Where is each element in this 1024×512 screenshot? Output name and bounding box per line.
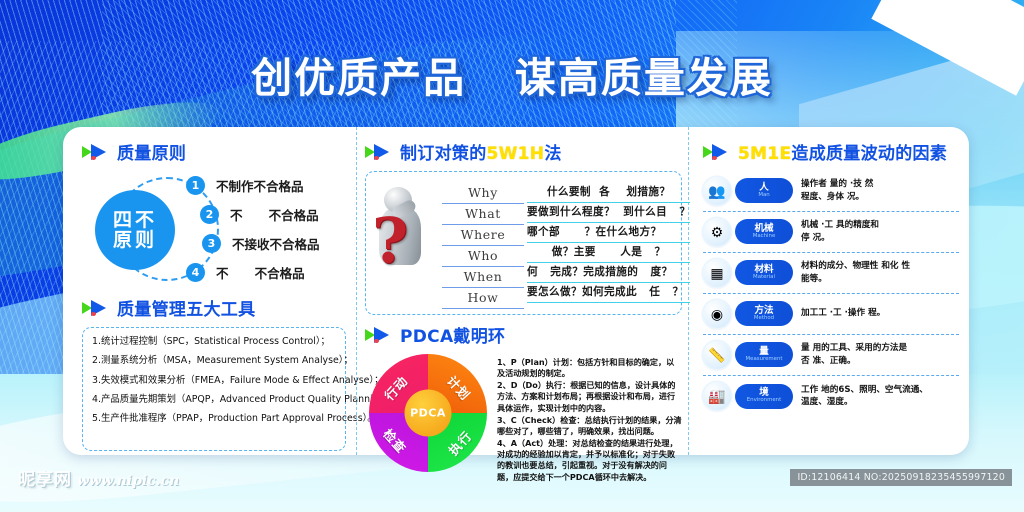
- 5w1h-prefix: 制订对策的: [400, 144, 487, 164]
- section-header-5m1e: 5M1E造成质量波动的因素: [703, 139, 959, 164]
- 5w1h-question: 要怎么做？如何完成此 任 ？: [527, 283, 690, 303]
- list-item: 4 不 不合格品: [186, 258, 366, 287]
- list-item: ⚙ 机械 Machine 机械 ·工 具的精度和 停 况。: [703, 212, 959, 253]
- quality-principle-diagram: 四不 原则 1 不制作不合格品 2 不 不合格品 3 不接收不合格品 4: [82, 171, 346, 289]
- section-header-quality-principle: 质量原则: [82, 139, 346, 164]
- arrow-bullet-icon: [82, 144, 110, 160]
- column-left: 质量原则 四不 原则 1 不制作不合格品 2 不 不合格品 3 不接收: [63, 127, 356, 455]
- section-header-5w1h: 制订对策的5W1H法: [365, 139, 682, 164]
- tool-line: 4.产品质量先期策划（APQP，Advanced Product Quality…: [92, 395, 337, 406]
- factor-pill: 人 Man: [735, 178, 793, 203]
- content-panel: 质量原则 四不 原则 1 不制作不合格品 2 不 不合格品 3 不接收: [63, 127, 969, 455]
- item-number: 2: [200, 205, 219, 224]
- watermark-logo-group: 昵享网 www.nipic.cn: [18, 465, 179, 490]
- factor-description: 工作 地的6S、照明、空气流通、 温度、湿度。: [793, 384, 959, 409]
- item-label: 不 不合格品: [230, 205, 319, 224]
- pdca-paragraph: 2、D（Do）执行：根据已知的信息，设计具体的方法、方案和计划布局；再根据设计和…: [497, 380, 682, 413]
- 5m1e-list: 👥 人 Man 操作者 量的 ·技 然 程度、身体 况。 ⚙ 机械 Machin…: [703, 171, 959, 417]
- factor-pill: 方法 Method: [735, 301, 793, 326]
- factor-label-en: Measurement: [745, 357, 782, 363]
- arrow-bullet-icon: [703, 144, 731, 160]
- ruler-icon: 📏: [703, 341, 731, 369]
- item-label: 不 不合格品: [216, 263, 305, 282]
- section-title-5w1h: 制订对策的5W1H法: [400, 139, 562, 164]
- 5w1h-question: 要做到什么程度？ 到什么目 ？: [527, 203, 690, 223]
- 5w1h-question: 何 完成？完成措施的 度？: [527, 263, 690, 283]
- section-title-quality-principle: 质量原则: [117, 139, 186, 164]
- list-item: ▦ 材料 Material 材料的成分、物理性 和化 性 能等。: [703, 253, 959, 294]
- item-label: 不制作不合格品: [216, 176, 304, 195]
- factor-description: 材料的成分、物理性 和化 性 能等。: [793, 260, 959, 285]
- pdca-content: 行动 计划 执行 检查 PDCA 1、P（Plan）计划：包括方针和目标的确定，…: [365, 354, 682, 484]
- 5m1e-highlight: 5M1E: [738, 144, 791, 164]
- 5w1h-word-list: Why What Where Who When How: [442, 177, 524, 309]
- section-header-five-tools: 质量管理五大工具: [82, 295, 346, 320]
- 5w1h-highlight: 5W1H: [487, 144, 545, 164]
- thinking-person-question-mark-icon: ?: [370, 177, 442, 309]
- factor-label-en: Machine: [753, 234, 776, 240]
- arrow-bullet-icon: [365, 144, 393, 160]
- 5m1e-suffix: 造成质量波动的因素: [791, 144, 947, 164]
- item-label: 不接收不合格品: [232, 234, 320, 253]
- watermark-logo-text: 昵享网: [18, 465, 72, 490]
- tool-line: 2.测量系统分析（MSA，Measurement System Analyse）…: [92, 356, 337, 367]
- list-item: 👥 人 Man 操作者 量的 ·技 然 程度、身体 况。: [703, 171, 959, 212]
- 5w1h-word: Who: [442, 246, 524, 267]
- list-item: 3 不接收不合格品: [202, 229, 366, 258]
- chip-icon: ▦: [703, 259, 731, 287]
- factor-label-en: Method: [754, 316, 774, 322]
- item-number: 3: [202, 234, 221, 253]
- brain-icon: ◉: [703, 300, 731, 328]
- list-item: 📏 量 Measurement 量 用的工具、采用的方法是 否 准、正确。: [703, 335, 959, 376]
- watermark-id-badge: ID:12106414 NO:20250918235455997120: [790, 469, 1012, 486]
- 5w1h-word: Why: [442, 183, 524, 204]
- tool-line: 3.失效模式和效果分析（FMEA，Failure Mode & Effect A…: [92, 376, 337, 387]
- 5w1h-suffix: 法: [544, 144, 561, 164]
- factor-description: 量 用的工具、采用的方法是 否 准、正确。: [793, 342, 959, 367]
- factor-pill: 量 Measurement: [735, 342, 793, 367]
- 5w1h-word: When: [442, 267, 524, 288]
- 5w1h-question: 做？主要 人是 ？: [527, 243, 690, 263]
- watermark-url: www.nipic.cn: [77, 473, 179, 489]
- factory-icon: 🏭: [703, 382, 731, 410]
- 5w1h-word: How: [442, 288, 524, 309]
- list-item: 🏭 境 Environment 工作 地的6S、照明、空气流通、 温度、湿度。: [703, 376, 959, 417]
- tool-line: 1.统计过程控制（SPC，Statistical Process Control…: [92, 337, 337, 348]
- pdca-wheel-diagram: 行动 计划 执行 检查 PDCA: [369, 354, 487, 472]
- column-middle: 制订对策的5W1H法 ? Why What Where Who When How…: [356, 127, 689, 455]
- arrow-bullet-icon: [82, 300, 110, 316]
- people-icon: 👥: [703, 177, 731, 205]
- factor-label-en: Material: [753, 275, 775, 281]
- pdca-description: 1、P（Plan）计划：包括方针和目标的确定，以及活动规划的制定。 2、D（Do…: [487, 354, 682, 484]
- 5w1h-question: 什么要制 各 划措施？: [527, 183, 690, 203]
- factor-pill: 机械 Machine: [735, 219, 793, 244]
- 5w1h-word: What: [442, 204, 524, 225]
- section-title-5m1e: 5M1E造成质量波动的因素: [738, 139, 947, 164]
- factor-pill: 境 Environment: [735, 384, 793, 409]
- factor-description: 机械 ·工 具的精度和 停 况。: [793, 219, 959, 244]
- factor-pill: 材料 Material: [735, 260, 793, 285]
- 5w1h-question: 哪个部 ？在什么地方？: [527, 223, 690, 243]
- item-number: 4: [186, 263, 205, 282]
- arrow-bullet-icon: [365, 327, 393, 343]
- five-tools-box: 1.统计过程控制（SPC，Statistical Process Control…: [82, 327, 346, 451]
- four-no-circle: 四不 原则: [95, 190, 175, 270]
- factor-description: 操作者 量的 ·技 然 程度、身体 况。: [793, 178, 959, 203]
- page-title: 创优质产品 谋高质量发展: [0, 44, 1024, 104]
- pdca-paragraph: 4、A（Act）处理：对总结检查的结果进行处理，对成功的经验加以肯定，并予以标准…: [497, 438, 682, 483]
- four-no-line-1: 四不: [113, 210, 157, 230]
- pdca-paragraph: 3、C（Check）检查：总结执行计划的结果，分清哪些对了，哪些错了，明确效果，…: [497, 415, 682, 437]
- factor-label-en: Environment: [747, 398, 781, 404]
- 5w1h-question-list: 什么要制 各 划措施？ 要做到什么程度？ 到什么目 ？ 哪个部 ？在什么地方？ …: [524, 177, 690, 309]
- section-title-pdca: PDCA戴明环: [400, 322, 505, 347]
- 5w1h-word: Where: [442, 225, 524, 246]
- tool-line: 5.生产件批准程序（PPAP，Production Part Approval …: [92, 414, 337, 425]
- pdca-hub-label: PDCA: [405, 390, 452, 437]
- gear-icon: ⚙: [703, 218, 731, 246]
- section-header-pdca: PDCA戴明环: [365, 322, 682, 347]
- quality-principle-list: 1 不制作不合格品 2 不 不合格品 3 不接收不合格品 4 不 不合格品: [166, 171, 366, 287]
- pdca-paragraph: 1、P（Plan）计划：包括方针和目标的确定，以及活动规划的制定。: [497, 357, 682, 379]
- four-no-line-2: 原则: [113, 230, 157, 250]
- list-item: 2 不 不合格品: [200, 200, 366, 229]
- factor-description: 加工工 ·工 ·操作 程。: [793, 307, 959, 319]
- factor-label-en: Man: [758, 193, 769, 199]
- item-number: 1: [186, 176, 205, 195]
- 5w1h-box: ? Why What Where Who When How 什么要制 各 划措施…: [365, 171, 682, 315]
- list-item: 1 不制作不合格品: [186, 171, 366, 200]
- section-title-five-tools: 质量管理五大工具: [117, 295, 255, 320]
- column-right: 5M1E造成质量波动的因素 👥 人 Man 操作者 量的 ·技 然 程度、身体 …: [689, 127, 969, 455]
- list-item: ◉ 方法 Method 加工工 ·工 ·操作 程。: [703, 294, 959, 335]
